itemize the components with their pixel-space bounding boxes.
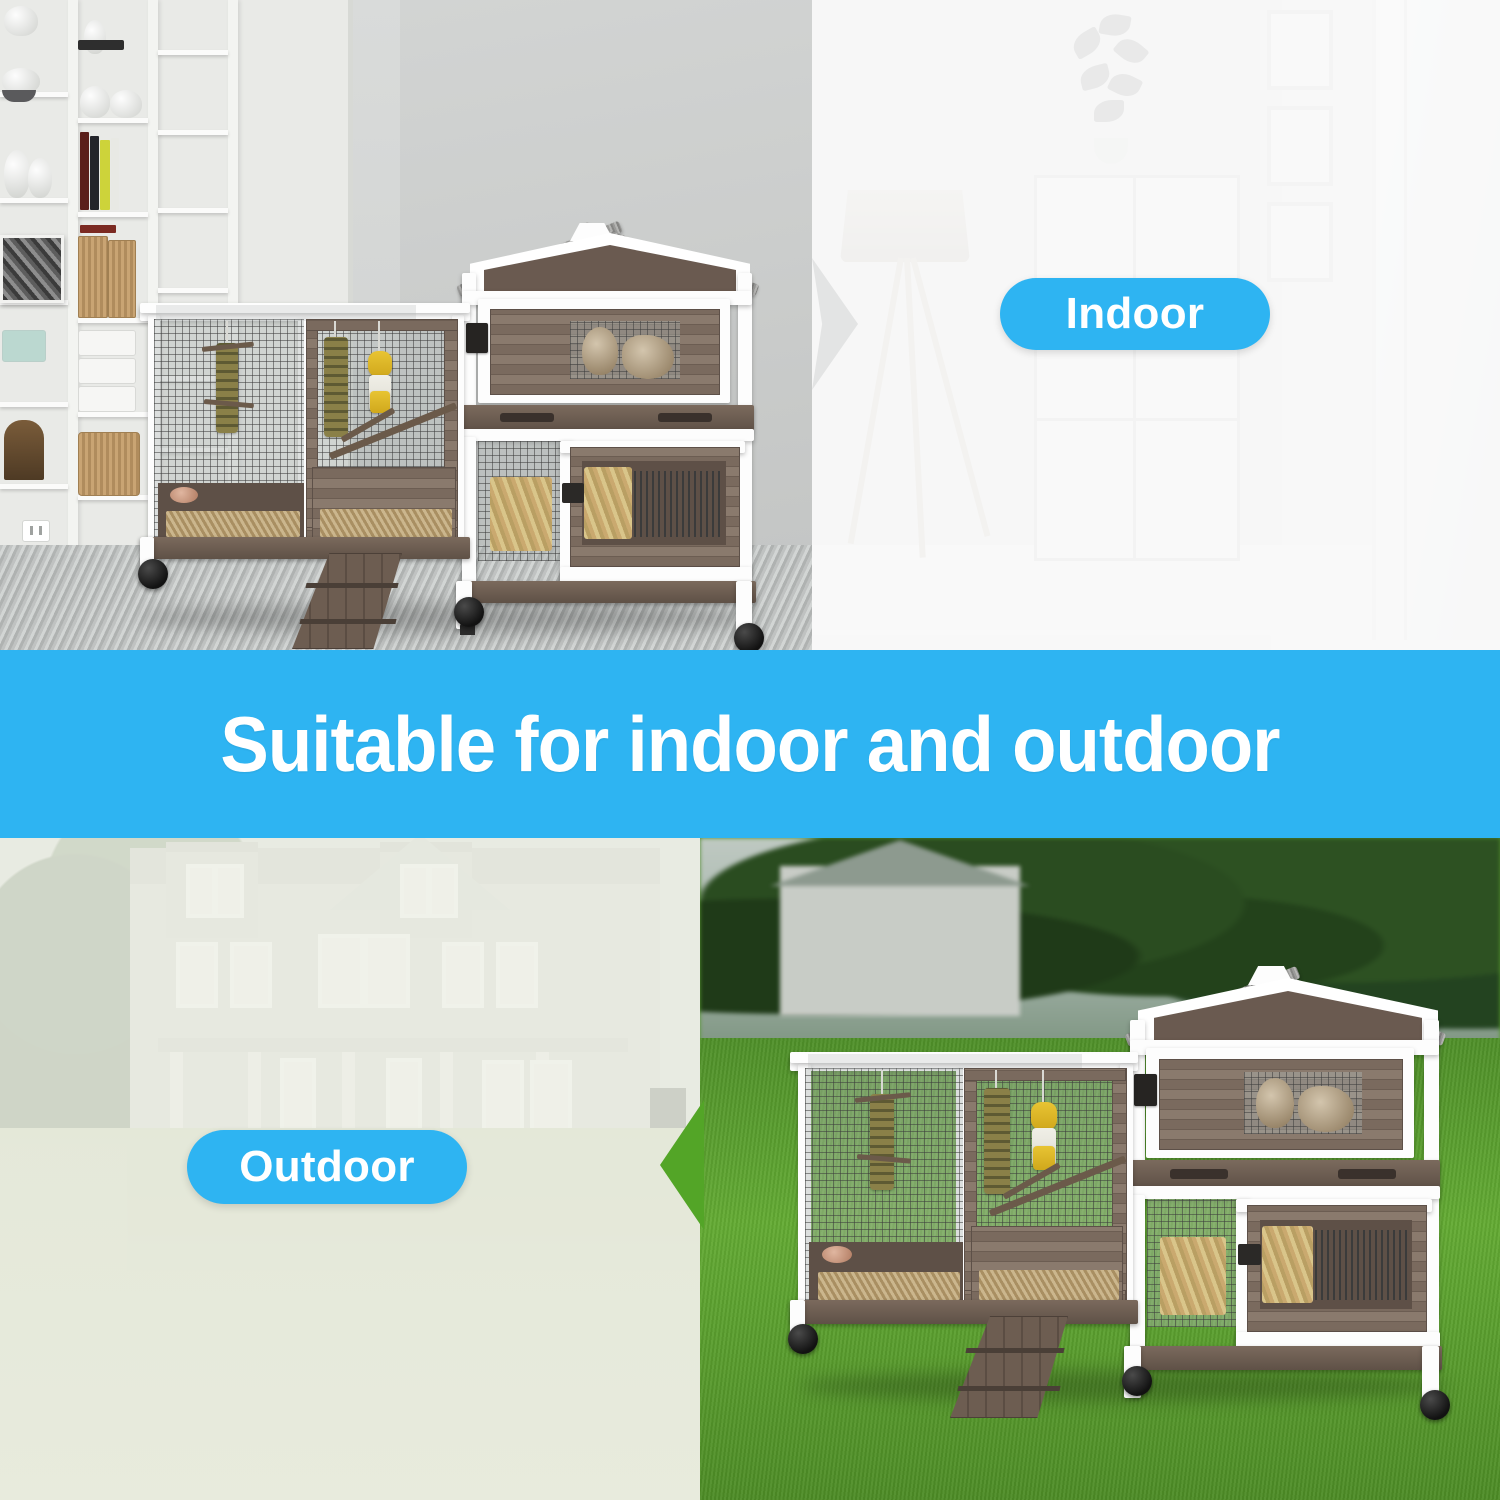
rabbit xyxy=(582,327,618,375)
rabbit-hutch-indoor xyxy=(130,215,790,635)
headline-text: Suitable for indoor and outdoor xyxy=(53,705,1448,783)
panel-indoor-photo xyxy=(0,0,812,650)
product-marketing-image: Suitable for indoor and outdoor xyxy=(0,0,1500,1500)
wall-frames xyxy=(1267,10,1327,290)
suburban-house xyxy=(130,848,660,1138)
badge-outdoor: Outdoor xyxy=(187,1130,467,1204)
rabbit-hutch-outdoor xyxy=(780,960,1480,1400)
window xyxy=(1372,0,1500,640)
badge-outdoor-label: Outdoor xyxy=(239,1142,415,1192)
badge-indoor-label: Indoor xyxy=(1066,289,1205,339)
shelving-unit xyxy=(1034,175,1240,561)
ramp xyxy=(292,553,402,649)
badge-indoor: Indoor xyxy=(1000,278,1270,350)
headline-banner: Suitable for indoor and outdoor xyxy=(0,650,1500,838)
potted-plant xyxy=(1070,10,1150,170)
wall-outlet xyxy=(22,520,50,542)
lamp-shade xyxy=(840,190,970,262)
caster-wheel xyxy=(454,597,484,627)
panel-outdoor-photo xyxy=(700,838,1500,1500)
caster-wheel xyxy=(734,623,764,650)
picture-frame xyxy=(0,235,64,303)
